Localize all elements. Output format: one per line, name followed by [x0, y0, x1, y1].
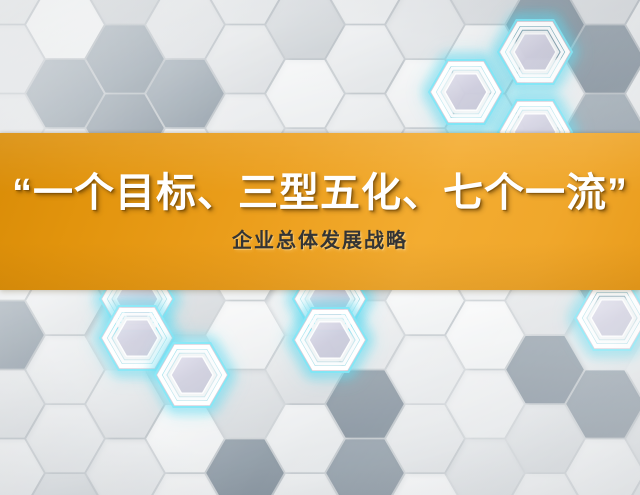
title-slide: “一个目标、三型五化、七个一流” 企业总体发展战略	[0, 0, 640, 495]
title-banner: “一个目标、三型五化、七个一流” 企业总体发展战略	[0, 133, 640, 290]
page-subtitle: 企业总体发展战略	[232, 230, 408, 252]
page-title: “一个目标、三型五化、七个一流”	[12, 172, 628, 214]
